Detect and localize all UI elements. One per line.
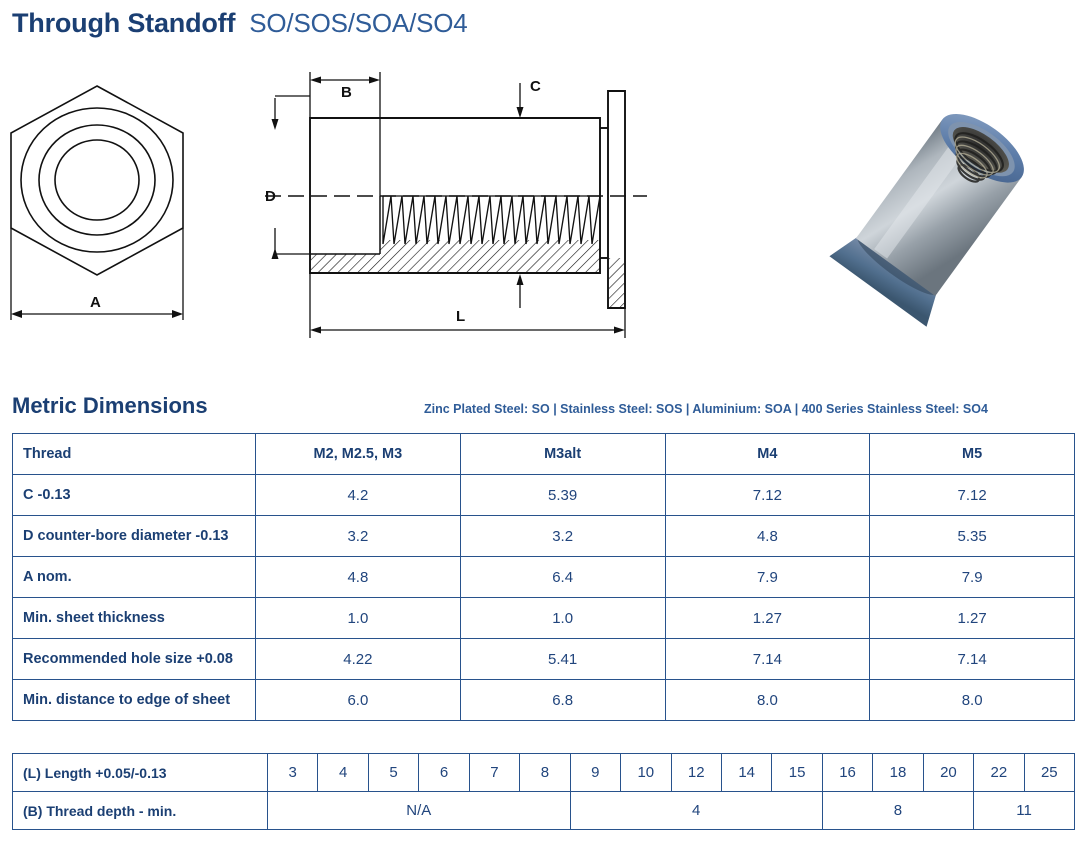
depth-row-label: (B) Thread depth - min. — [13, 792, 268, 830]
length-cell: 25 — [1024, 754, 1074, 792]
cell-value: 6.4 — [460, 557, 665, 598]
length-cell: 22 — [974, 754, 1024, 792]
dimension-label-d: D — [265, 188, 276, 205]
arrowhead-l-right — [614, 327, 625, 334]
cell-value: 7.14 — [665, 639, 870, 680]
dimension-label-b: B — [341, 84, 352, 101]
table-row: Min. sheet thickness 1.0 1.0 1.27 1.27 — [13, 598, 1075, 639]
cell-value: 7.9 — [665, 557, 870, 598]
hex-end-view-drawing — [0, 58, 250, 348]
header-m3alt: M3alt — [460, 434, 665, 475]
middle-circle — [39, 125, 155, 235]
standoff-photo — [795, 78, 1075, 348]
thread-depth-cell: 4 — [570, 792, 822, 830]
cell-value: 1.0 — [256, 598, 461, 639]
row-label: A nom. — [13, 557, 256, 598]
row-label: D counter-bore diameter -0.13 — [13, 516, 256, 557]
length-cell: 5 — [368, 754, 418, 792]
wall-hatch-main — [380, 240, 600, 272]
arrowhead-l-pointer — [517, 274, 524, 285]
page-title: Through Standoff SO/SOS/SOA/SO4 — [12, 8, 468, 39]
cell-value: 6.0 — [256, 680, 461, 721]
row-label: Recommended hole size +0.08 — [13, 639, 256, 680]
cell-value: 4.8 — [256, 557, 461, 598]
arrowhead-c — [517, 107, 524, 118]
header-m4: M4 — [665, 434, 870, 475]
cell-value: 4.8 — [665, 516, 870, 557]
cell-value: 1.27 — [870, 598, 1075, 639]
header-m5: M5 — [870, 434, 1075, 475]
thread-depth-cell: N/A — [268, 792, 571, 830]
length-cell: 14 — [721, 754, 771, 792]
materials-note: Zinc Plated Steel: SO | Stainless Steel:… — [424, 402, 988, 416]
inner-circle — [55, 140, 139, 220]
technical-drawings: A — [0, 58, 1086, 358]
length-cell: 9 — [570, 754, 620, 792]
metric-dimensions-table: Thread M2, M2.5, M3 M3alt M4 M5 C -0.13 … — [12, 433, 1075, 721]
length-cell: 12 — [671, 754, 721, 792]
header-thread: Thread — [13, 434, 256, 475]
cell-value: 7.9 — [870, 557, 1075, 598]
cell-value: 5.35 — [870, 516, 1075, 557]
dimension-label-a: A — [90, 294, 101, 311]
arrowhead-d-top — [272, 119, 279, 130]
cell-value: 5.41 — [460, 639, 665, 680]
page-title-main: Through Standoff — [12, 8, 235, 39]
row-label: Min. sheet thickness — [13, 598, 256, 639]
arrowhead-l-left — [310, 327, 321, 334]
cell-value: 8.0 — [870, 680, 1075, 721]
cell-value: 8.0 — [665, 680, 870, 721]
metric-dimensions-heading: Metric Dimensions — [12, 393, 208, 419]
length-cell: 7 — [469, 754, 519, 792]
arrowhead-b-left — [310, 77, 321, 84]
thread-depth-cell: 11 — [974, 792, 1075, 830]
cell-value: 4.22 — [256, 639, 461, 680]
table-row: Recommended hole size +0.08 4.22 5.41 7.… — [13, 639, 1075, 680]
row-label: Min. distance to edge of sheet — [13, 680, 256, 721]
arrowhead-a-left — [11, 310, 22, 318]
arrowhead-b-right — [369, 77, 380, 84]
cell-value: 1.0 — [460, 598, 665, 639]
length-cell: 15 — [772, 754, 822, 792]
length-cell: 20 — [923, 754, 973, 792]
cell-value: 1.27 — [665, 598, 870, 639]
length-cell: 18 — [873, 754, 923, 792]
hexagon-outline — [11, 86, 183, 275]
page-title-codes: SO/SOS/SOA/SO4 — [249, 8, 467, 39]
length-cell: 8 — [520, 754, 570, 792]
length-cell: 3 — [268, 754, 318, 792]
cell-value: 5.39 — [460, 475, 665, 516]
length-cell: 6 — [419, 754, 469, 792]
cell-value: 7.12 — [665, 475, 870, 516]
length-cell: 4 — [318, 754, 368, 792]
table-row: Min. distance to edge of sheet 6.0 6.8 8… — [13, 680, 1075, 721]
row-label: C -0.13 — [13, 475, 256, 516]
wall-hatch-left — [311, 254, 380, 272]
outer-circle — [21, 108, 173, 252]
length-cell: 16 — [822, 754, 872, 792]
thread-profile — [383, 196, 600, 244]
table-row: D counter-bore diameter -0.13 3.2 3.2 4.… — [13, 516, 1075, 557]
thread-depth-cell: 8 — [822, 792, 973, 830]
table-row: A nom. 4.8 6.4 7.9 7.9 — [13, 557, 1075, 598]
flange-hatch — [609, 258, 624, 307]
length-cell: 10 — [621, 754, 671, 792]
thread-depth-row: (B) Thread depth - min. N/A4811 — [13, 792, 1075, 830]
cell-value: 3.2 — [460, 516, 665, 557]
cross-section-drawing — [255, 58, 655, 348]
cell-value: 6.8 — [460, 680, 665, 721]
arrowhead-a-right — [172, 310, 183, 318]
length-row-label: (L) Length +0.05/-0.13 — [13, 754, 268, 792]
header-m2: M2, M2.5, M3 — [256, 434, 461, 475]
table-header-row: Thread M2, M2.5, M3 M3alt M4 M5 — [13, 434, 1075, 475]
cell-value: 3.2 — [256, 516, 461, 557]
length-row: (L) Length +0.05/-0.13 34567891012141516… — [13, 754, 1075, 792]
cell-value: 7.14 — [870, 639, 1075, 680]
dimension-label-c: C — [530, 78, 541, 95]
table-row: C -0.13 4.2 5.39 7.12 7.12 — [13, 475, 1075, 516]
dimension-label-l: L — [456, 308, 465, 325]
length-thread-depth-table: (L) Length +0.05/-0.13 34567891012141516… — [12, 753, 1075, 830]
cell-value: 7.12 — [870, 475, 1075, 516]
cell-value: 4.2 — [256, 475, 461, 516]
